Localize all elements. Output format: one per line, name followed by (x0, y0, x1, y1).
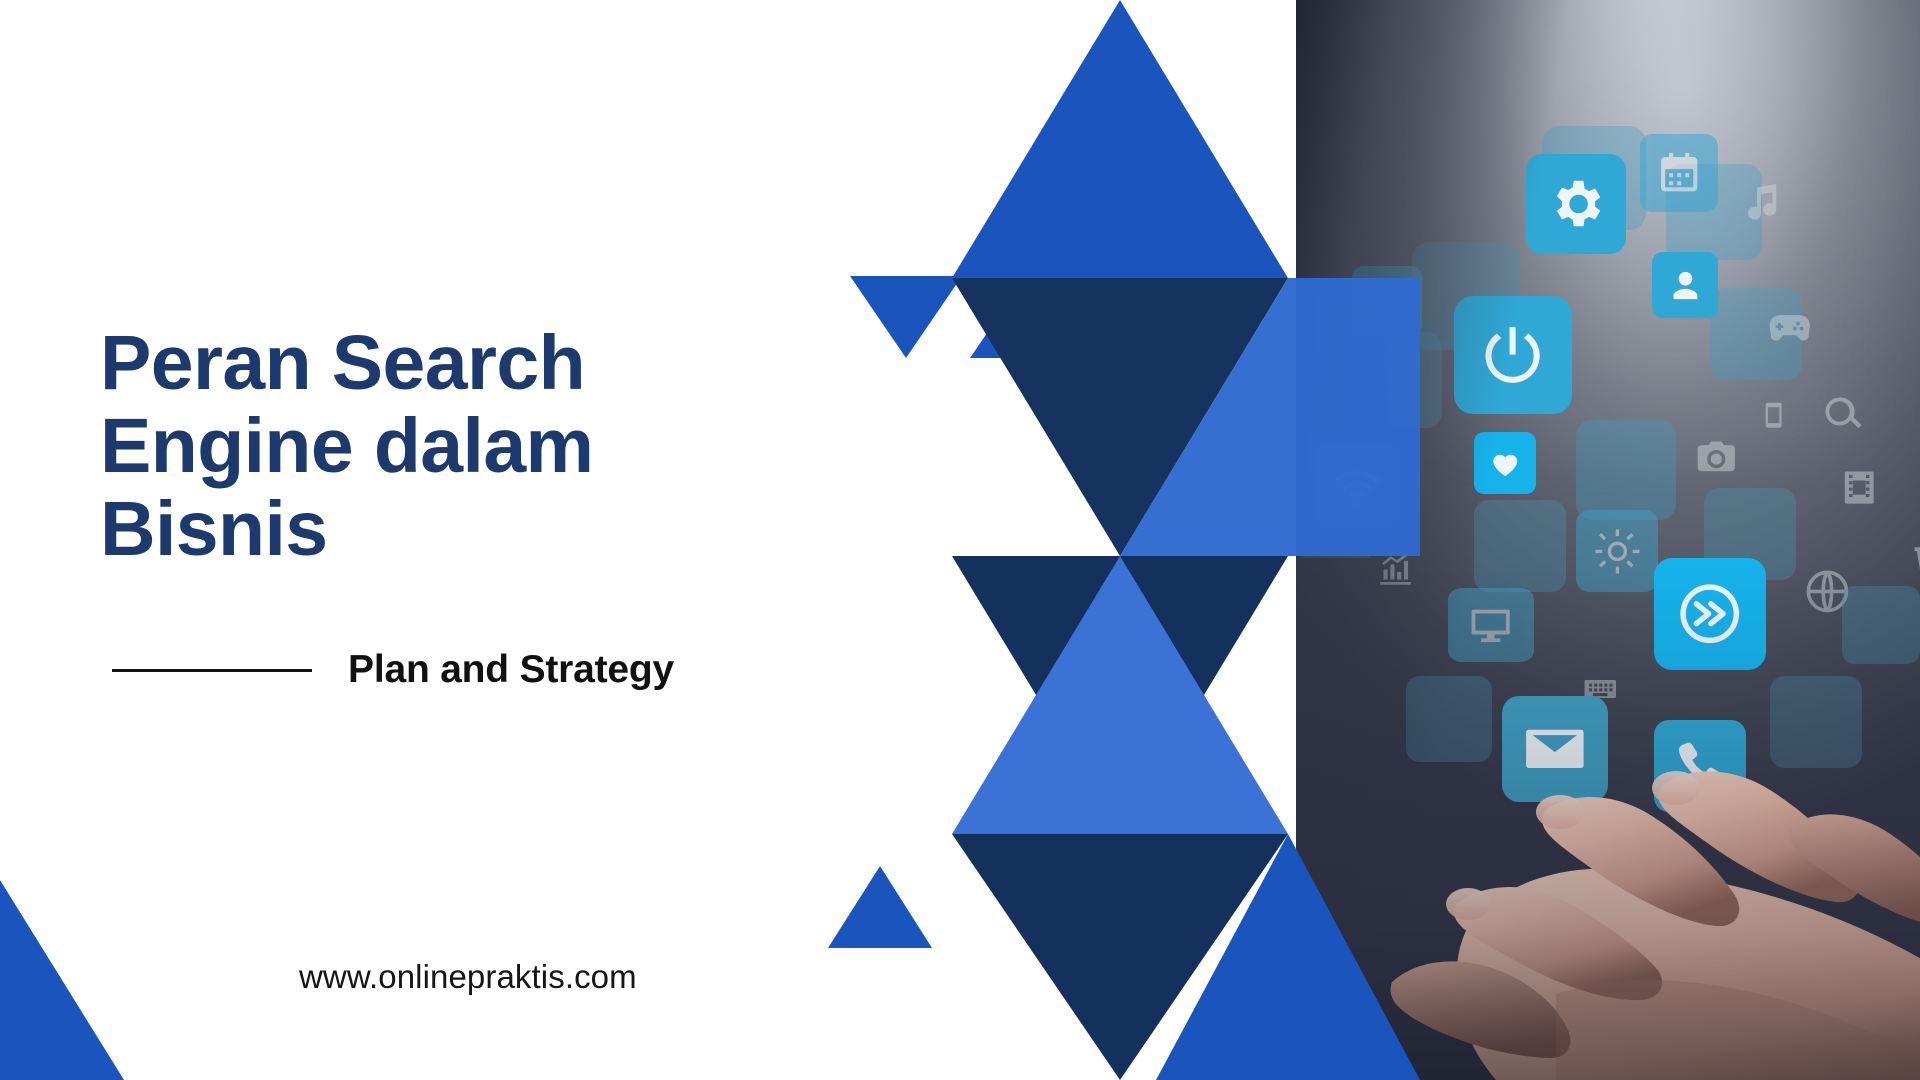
smartphone-icon (1752, 384, 1796, 446)
triangle-up-large-top (952, 0, 1288, 278)
website-url: www.onlinepraktis.com (299, 958, 637, 996)
film-icon (1828, 450, 1890, 526)
app-tile-backdrop-l (1842, 586, 1920, 664)
phone-icon (1654, 720, 1746, 812)
music-note-icon (1724, 164, 1798, 238)
subtitle-divider (112, 669, 312, 672)
triangle-up-small-bottom-left (828, 866, 932, 948)
app-tile-backdrop-j (1770, 676, 1862, 768)
subtitle-text: Plan and Strategy (348, 648, 674, 692)
heart-icon (1474, 432, 1536, 494)
monitor-icon (1448, 588, 1534, 662)
basket-icon (1896, 518, 1920, 592)
triangle-down-small-left (850, 276, 962, 358)
brightness-icon (1576, 510, 1658, 592)
page-title: Peran Search Engine dalam Bisnis (100, 322, 860, 571)
camera-icon (1672, 420, 1760, 492)
gear-icon (1526, 154, 1626, 254)
app-tile-backdrop-g (1474, 500, 1566, 592)
mail-icon (1502, 696, 1608, 802)
triangle-corner-bottom-left (0, 880, 130, 1080)
power-icon (1454, 296, 1572, 414)
gamepad-icon (1742, 288, 1838, 366)
search-icon (1806, 378, 1878, 450)
fast-forward-icon (1654, 558, 1766, 670)
user-icon (1652, 252, 1718, 318)
calendar-icon (1640, 134, 1718, 212)
app-tile-backdrop-f (1576, 420, 1676, 520)
subtitle-row: Plan and Strategy (112, 648, 674, 692)
presentation-slide: Peran Search Engine dalam Bisnis Plan an… (0, 0, 1920, 1080)
decorative-triangle-band (820, 0, 1420, 1080)
